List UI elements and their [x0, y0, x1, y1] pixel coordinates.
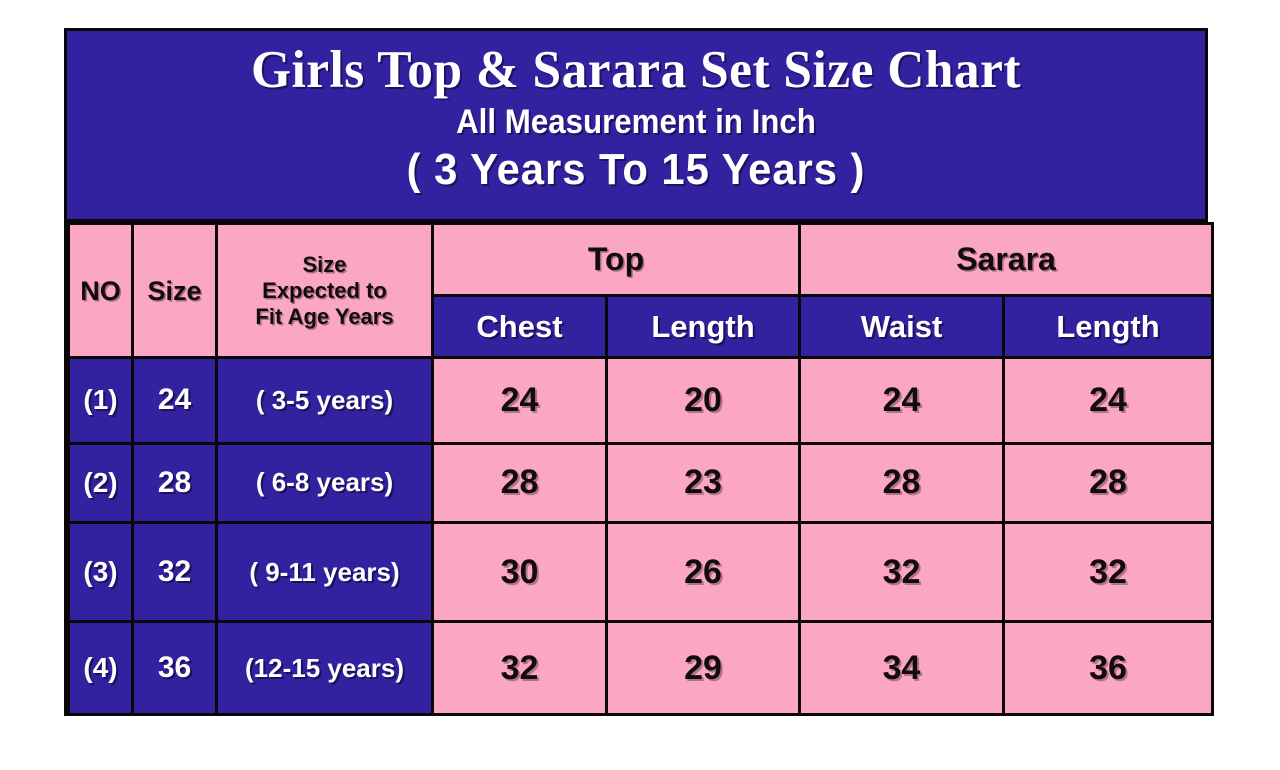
cell-size: 28	[133, 443, 217, 523]
column-header-size: Size	[133, 224, 217, 358]
cell-age: ( 9-11 years)	[217, 523, 433, 622]
cell-top-length: 26	[607, 523, 800, 622]
cell-sarara-length: 28	[1004, 443, 1213, 523]
column-header-sarara-waist: Waist	[800, 296, 1004, 358]
table-header-row-group: NO Size Size Expected to Fit Age Years T…	[69, 224, 1213, 296]
table-body: (1) 24 ( 3-5 years) 24 20 24 24 (2) 28 (…	[69, 358, 1213, 715]
cell-size: 24	[133, 358, 217, 444]
cell-sarara-length: 24	[1004, 358, 1213, 444]
chart-subtitle-agerange: ( 3 Years To 15 Years )	[95, 143, 1176, 197]
cell-no: (1)	[69, 358, 133, 444]
column-header-age-line2: Expected to	[218, 278, 431, 304]
table-row: (1) 24 ( 3-5 years) 24 20 24 24	[69, 358, 1213, 444]
table-row: (3) 32 ( 9-11 years) 30 26 32 32	[69, 523, 1213, 622]
cell-no: (4)	[69, 622, 133, 715]
cell-size: 36	[133, 622, 217, 715]
column-header-top-chest: Chest	[433, 296, 607, 358]
column-group-header-sarara: Sarara	[800, 224, 1213, 296]
column-group-header-top: Top	[433, 224, 800, 296]
cell-sarara-length: 32	[1004, 523, 1213, 622]
column-header-no: NO	[69, 224, 133, 358]
cell-size: 32	[133, 523, 217, 622]
chart-title-band: Girls Top & Sarara Set Size Chart All Me…	[67, 31, 1205, 222]
cell-top-length: 23	[607, 443, 800, 523]
chart-subtitle-units: All Measurement in Inch	[113, 101, 1160, 143]
table-row: (4) 36 (12-15 years) 32 29 34 36	[69, 622, 1213, 715]
cell-top-chest: 24	[433, 358, 607, 444]
size-chart-table: NO Size Size Expected to Fit Age Years T…	[67, 222, 1214, 716]
cell-no: (3)	[69, 523, 133, 622]
column-header-age-line1: Size	[218, 252, 431, 278]
cell-top-chest: 32	[433, 622, 607, 715]
column-header-top-length: Length	[607, 296, 800, 358]
table-row: (2) 28 ( 6-8 years) 28 23 28 28	[69, 443, 1213, 523]
table-head: NO Size Size Expected to Fit Age Years T…	[69, 224, 1213, 358]
cell-age: ( 6-8 years)	[217, 443, 433, 523]
cell-sarara-waist: 28	[800, 443, 1004, 523]
cell-age: ( 3-5 years)	[217, 358, 433, 444]
cell-top-chest: 28	[433, 443, 607, 523]
column-header-sarara-length: Length	[1004, 296, 1213, 358]
cell-sarara-waist: 24	[800, 358, 1004, 444]
page-title: Girls Top & Sarara Set Size Chart	[84, 39, 1188, 101]
cell-no: (2)	[69, 443, 133, 523]
cell-sarara-waist: 34	[800, 622, 1004, 715]
cell-top-chest: 30	[433, 523, 607, 622]
column-header-age-line3: Fit Age Years	[218, 304, 431, 330]
size-chart-container: Girls Top & Sarara Set Size Chart All Me…	[64, 28, 1208, 716]
cell-top-length: 20	[607, 358, 800, 444]
column-header-age: Size Expected to Fit Age Years	[217, 224, 433, 358]
cell-age: (12-15 years)	[217, 622, 433, 715]
cell-sarara-waist: 32	[800, 523, 1004, 622]
cell-top-length: 29	[607, 622, 800, 715]
cell-sarara-length: 36	[1004, 622, 1213, 715]
